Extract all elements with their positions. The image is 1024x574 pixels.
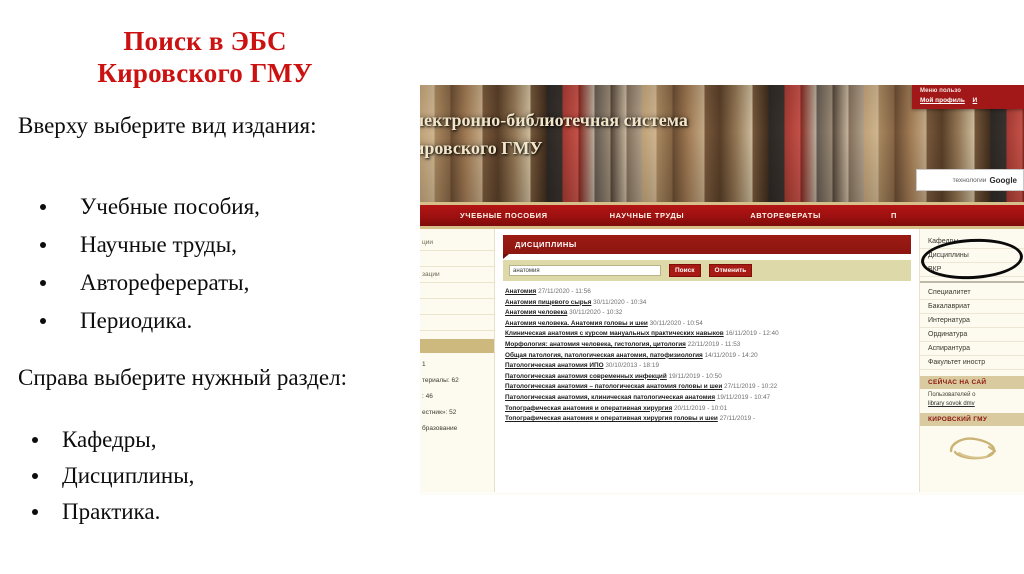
sidebar-item-bachelor[interactable]: Бакалавриат bbox=[920, 300, 1024, 314]
result-title[interactable]: Топографическая анатомия и оперативная х… bbox=[505, 415, 718, 422]
list-item-label: Научные труды, bbox=[80, 232, 237, 257]
left-sidebar-line: териалы: 62 bbox=[420, 373, 494, 389]
search-results-list: Анатомия 27/11/2020 - 11:56 Анатомия пищ… bbox=[503, 287, 911, 425]
sidebar-item-foreign-faculty[interactable]: Факультет иностр bbox=[920, 356, 1024, 370]
page-title-line-1: Поиск в ЭБС bbox=[10, 26, 400, 58]
list-item-label: Кафедры, bbox=[62, 427, 156, 452]
result-date: 27/11/2019 - 10:22 bbox=[724, 383, 777, 390]
left-sidebar-row[interactable] bbox=[420, 299, 494, 315]
sidebar-item-specialist[interactable]: Специалитет bbox=[920, 286, 1024, 300]
bullet-icon bbox=[40, 204, 46, 210]
profile-link[interactable]: Мой профиль bbox=[920, 97, 965, 104]
result-date: 19/11/2019 - 10:50 bbox=[669, 373, 722, 380]
sidebar-divider bbox=[920, 277, 1024, 283]
online-now-heading: СЕЙЧАС НА САЙ bbox=[920, 376, 1024, 389]
list-item-label: Дисциплины, bbox=[62, 463, 194, 488]
google-logo-text: Google bbox=[989, 176, 1017, 185]
left-sidebar-row[interactable] bbox=[420, 251, 494, 267]
result-date: 20/11/2019 - 10:01 bbox=[674, 405, 727, 412]
panel-title: ДИСЦИПЛИНЫ bbox=[503, 235, 911, 254]
embedded-website-screenshot: лектронно-библиотечная система ировского… bbox=[420, 85, 1024, 495]
result-item: Клиническая анатомия с курсом мануальных… bbox=[505, 329, 911, 340]
result-title[interactable]: Патологическая анатомия, клиническая пат… bbox=[505, 394, 715, 401]
result-item: Анатомия пищевого сырья 30/11/2020 - 10:… bbox=[505, 298, 911, 309]
nav-item-periodicals[interactable]: П bbox=[891, 211, 897, 220]
left-sidebar-line: : 46 bbox=[420, 389, 494, 405]
result-item: Анатомия 27/11/2020 - 11:56 bbox=[505, 287, 911, 298]
list-item: Практика. bbox=[18, 494, 398, 530]
nav-item-abstracts[interactable]: АВТОРЕФЕРАТЫ bbox=[750, 211, 821, 220]
user-menu[interactable]: Меню пользо Мой профиль И bbox=[912, 85, 1024, 109]
left-sidebar-heading-bar bbox=[420, 339, 494, 353]
intro-paragraph-one: Вверху выберите вид издания: bbox=[18, 112, 398, 140]
list-item: Дисциплины, bbox=[18, 458, 398, 494]
result-item: Топографическая анатомия и оперативная х… bbox=[505, 404, 911, 415]
result-title[interactable]: Топографическая анатомия и оперативная х… bbox=[505, 405, 672, 412]
result-item: Морфология: анатомия человека, гистологи… bbox=[505, 340, 911, 351]
bullet-icon bbox=[40, 280, 46, 286]
list-item-label: Практика. bbox=[62, 499, 160, 524]
left-sidebar-line: бразование bbox=[420, 421, 494, 437]
list-item: Кафедры, bbox=[18, 422, 398, 458]
result-item: Топографическая анатомия и оперативная х… bbox=[505, 414, 911, 425]
search-form: анатомия Поиск Отменить bbox=[503, 260, 911, 281]
left-sidebar-line: 1 bbox=[420, 357, 494, 373]
right-sidebar: Кафедры Дисциплины ВКР Специалитет Бакал… bbox=[919, 229, 1024, 492]
user-menu-link-secondary[interactable]: И bbox=[973, 97, 978, 104]
list-item-label: Автореферераты, bbox=[80, 270, 249, 295]
result-date: 16/11/2019 - 12:40 bbox=[725, 330, 778, 337]
site-title-line-2: ировского ГМУ bbox=[420, 135, 688, 163]
university-logo bbox=[920, 426, 1024, 472]
result-date: 14/11/2019 - 14:20 bbox=[705, 352, 758, 359]
result-item: Общая патология, патологическая анатомия… bbox=[505, 351, 911, 362]
result-date: 30/11/2020 - 10:32 bbox=[569, 309, 622, 316]
left-sidebar-row[interactable] bbox=[420, 315, 494, 331]
result-date: 30/10/2013 - 18:19 bbox=[605, 362, 659, 369]
user-menu-links: Мой профиль И bbox=[920, 96, 1024, 106]
list-item: Периодика. bbox=[18, 302, 398, 340]
online-users-list: library sovok dmv bbox=[920, 398, 1024, 407]
sidebar-item-residency[interactable]: Ординатура bbox=[920, 328, 1024, 342]
main-content: ДИСЦИПЛИНЫ анатомия Поиск Отменить Анато… bbox=[495, 229, 919, 492]
university-brand-heading: КИРОВСКИЙ ГМУ bbox=[920, 413, 1024, 426]
sidebar-item-disciplines[interactable]: Дисциплины bbox=[920, 249, 1024, 263]
list-item: Учебные пособия, bbox=[18, 188, 398, 226]
nav-item-textbooks[interactable]: УЧЕБНЫЕ ПОСОБИЯ bbox=[460, 211, 548, 220]
result-date: 27/11/2020 - 11:56 bbox=[538, 288, 591, 295]
search-button[interactable]: Поиск bbox=[669, 264, 701, 277]
bullet-icon bbox=[32, 437, 38, 443]
sidebar-item-vkr[interactable]: ВКР bbox=[920, 263, 1024, 277]
result-item: Патологическая анатомия – патологическая… bbox=[505, 382, 911, 393]
result-title[interactable]: Общая патология, патологическая анатомия… bbox=[505, 352, 703, 359]
cancel-button[interactable]: Отменить bbox=[709, 264, 753, 277]
result-item: Анатомия человека. Анатомия головы и шеи… bbox=[505, 319, 911, 330]
nav-item-scientific-works[interactable]: НАУЧНЫЕ ТРУДЫ bbox=[610, 211, 685, 220]
bullet-icon bbox=[32, 509, 38, 515]
left-sidebar-clipped: ции зации 1 териалы: 62 : 46 естник»: 52… bbox=[420, 229, 495, 492]
sidebar-item-departments[interactable]: Кафедры bbox=[920, 235, 1024, 249]
result-title[interactable]: Анатомия человека bbox=[505, 309, 567, 316]
result-item: Патологическая анатомия современных инфе… bbox=[505, 372, 911, 383]
site-header-banner: лектронно-библиотечная система ировского… bbox=[420, 85, 1024, 202]
page-body: ции зации 1 териалы: 62 : 46 естник»: 52… bbox=[420, 229, 1024, 492]
intro-paragraph-two: Справа выберите нужный раздел: bbox=[18, 364, 398, 392]
google-search-box[interactable]: технологии Google bbox=[916, 169, 1024, 191]
site-title-line-1: лектронно-библиотечная система bbox=[420, 107, 688, 135]
result-title[interactable]: Морфология: анатомия человека, гистологи… bbox=[505, 341, 686, 348]
result-item: Патологическая анатомия ИПО 30/10/2013 -… bbox=[505, 361, 911, 372]
result-date: 27/11/2019 - bbox=[720, 415, 755, 422]
result-title[interactable]: Патологическая анатомия – патологическая… bbox=[505, 383, 722, 390]
result-date: 22/11/2019 - 11:53 bbox=[688, 341, 741, 348]
left-sidebar-row[interactable]: ции bbox=[420, 235, 494, 251]
result-date: 30/11/2020 - 10:54 bbox=[650, 320, 703, 327]
search-input[interactable]: анатомия bbox=[509, 265, 661, 276]
left-sidebar-row[interactable] bbox=[420, 283, 494, 299]
online-users-count: Пользователей о bbox=[920, 389, 1024, 398]
left-sidebar-line: естник»: 52 bbox=[420, 405, 494, 421]
result-date: 30/11/2020 - 10:34 bbox=[593, 299, 646, 306]
online-user-links[interactable]: library sovok dmv bbox=[928, 401, 975, 407]
result-title[interactable]: Клиническая анатомия с курсом мануальных… bbox=[505, 330, 724, 337]
page-title-line-2: Кировского ГМУ bbox=[10, 58, 400, 90]
list-item: Научные труды, bbox=[18, 226, 398, 264]
sidebar-item-internship[interactable]: Интернатура bbox=[920, 314, 1024, 328]
main-navigation: УЧЕБНЫЕ ПОСОБИЯ НАУЧНЫЕ ТРУДЫ АВТОРЕФЕРА… bbox=[420, 202, 1024, 229]
left-sidebar-row[interactable]: зации bbox=[420, 267, 494, 283]
result-item: Анатомия человека 30/11/2020 - 10:32 bbox=[505, 308, 911, 319]
result-item: Патологическая анатомия, клиническая пат… bbox=[505, 393, 911, 404]
google-search-label: технологии bbox=[953, 177, 987, 184]
list-item-label: Учебные пособия, bbox=[80, 194, 260, 219]
result-title[interactable]: Анатомия человека. Анатомия головы и шеи bbox=[505, 320, 648, 327]
list-item-label: Периодика. bbox=[80, 308, 192, 333]
section-list: Кафедры, Дисциплины, Практика. bbox=[18, 422, 398, 530]
user-menu-title: Меню пользо bbox=[920, 87, 1024, 96]
site-title: лектронно-библиотечная система ировского… bbox=[420, 107, 688, 163]
page-title: Поиск в ЭБС Кировского ГМУ bbox=[10, 26, 400, 90]
result-title[interactable]: Анатомия bbox=[505, 288, 536, 295]
bullet-icon bbox=[32, 473, 38, 479]
result-title[interactable]: Патологическая анатомия современных инфе… bbox=[505, 373, 667, 380]
result-title[interactable]: Анатомия пищевого сырья bbox=[505, 299, 591, 306]
list-item: Автореферераты, bbox=[18, 264, 398, 302]
slide-text-column: Поиск в ЭБС Кировского ГМУ Вверху выбери… bbox=[0, 0, 410, 574]
publication-type-list: Учебные пособия, Научные труды, Авторефе… bbox=[18, 188, 398, 340]
sidebar-item-postgraduate[interactable]: Аспирантура bbox=[920, 342, 1024, 356]
result-date: 19/11/2019 - 10:47 bbox=[717, 394, 770, 401]
bullet-icon bbox=[40, 318, 46, 324]
result-title[interactable]: Патологическая анатомия ИПО bbox=[505, 362, 604, 369]
bullet-icon bbox=[40, 242, 46, 248]
